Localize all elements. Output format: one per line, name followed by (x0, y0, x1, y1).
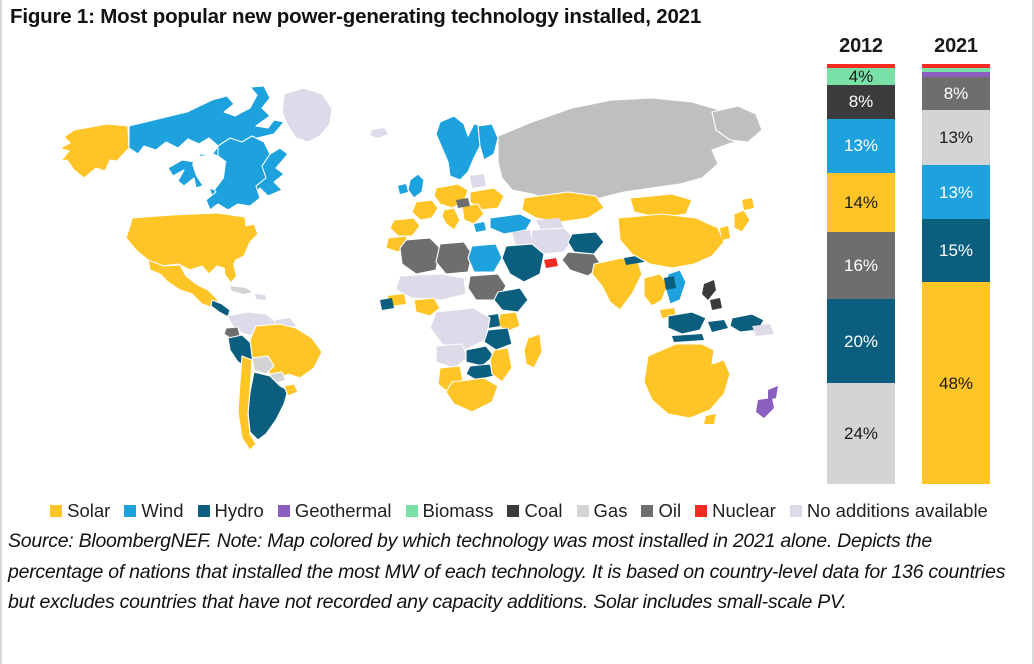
map-region-laos (664, 276, 676, 290)
bar-segment-wind: 13% (922, 165, 990, 220)
map-region-madagascar (524, 334, 542, 368)
bar-segment-oil: 16% (827, 232, 895, 299)
map-region-italy (442, 208, 460, 230)
legend-label: Biomass (423, 501, 494, 521)
map-region-indonesia (668, 312, 706, 334)
world-map (12, 38, 802, 488)
legend-label: Gas (594, 501, 628, 521)
map-region-cuba (230, 286, 252, 294)
map-region-afghanistan (568, 232, 604, 254)
map-region-argentina (248, 372, 288, 440)
stacked-bar-2012: 4%8%13%14%16%20%24% (827, 64, 895, 484)
stacked-bar-2021: 8%13%13%15%48% (922, 64, 990, 484)
map-region-india (592, 258, 642, 310)
legend-label: Hydro (215, 501, 264, 521)
legend-label: No additions available (807, 501, 988, 521)
legend-swatch-icon (278, 505, 290, 517)
bar-segment-value: 13% (844, 137, 878, 154)
map-region-greece (474, 222, 486, 232)
bar-segment-value: 14% (844, 194, 878, 211)
map-region-greenland (282, 88, 332, 142)
bar-segment-value: 15% (939, 242, 973, 259)
legend-item-nuclear[interactable]: Nuclear (695, 501, 776, 521)
map-region-japan-north (742, 198, 754, 210)
legend-item-hydro[interactable]: Hydro (198, 501, 264, 521)
legend: SolarWindHydroGeothermalBiomassCoalGasOi… (2, 498, 1034, 524)
legend-item-wind[interactable]: Wind (124, 501, 183, 521)
legend-label: Nuclear (712, 501, 776, 521)
legend-swatch-icon (507, 505, 519, 517)
map-region-united-kingdom (408, 174, 424, 198)
bar-segment-value: 8% (944, 85, 969, 102)
world-map-container (12, 38, 802, 488)
legend-label: Geothermal (295, 501, 392, 521)
map-region-hispaniola (255, 294, 266, 300)
legend-label: Solar (67, 501, 110, 521)
legend-swatch-icon (790, 505, 802, 517)
legend-swatch-icon (50, 505, 62, 517)
map-region-iberia (390, 218, 420, 236)
map-region-iceland (370, 128, 388, 138)
legend-item-geothermal[interactable]: Geothermal (278, 501, 392, 521)
map-region-libya (436, 242, 472, 274)
map-region-saudi-arabia (502, 244, 544, 282)
map-region-japan (734, 210, 750, 232)
map-region-australia (644, 344, 730, 418)
map-region-us-florida (225, 263, 236, 282)
bar-segment-gas: 13% (922, 110, 990, 165)
map-region-philippines (702, 280, 716, 300)
legend-item-biomass[interactable]: Biomass (406, 501, 494, 521)
map-region-russia (498, 98, 742, 202)
map-region-baltics (470, 174, 486, 188)
bar-segment-wind: 13% (827, 119, 895, 174)
map-region-ethiopia (494, 288, 528, 312)
legend-swatch-icon (577, 505, 589, 517)
map-region-france (412, 200, 438, 220)
map-region-indonesia-east (708, 320, 728, 332)
map-region-uae (544, 258, 558, 268)
map-region-guinea (380, 298, 394, 310)
bar-segment-value: 13% (939, 129, 973, 146)
map-region-new-zealand (768, 386, 778, 400)
bar-segment-biomass: 4% (827, 68, 895, 85)
map-region-kazakhstan (522, 192, 604, 222)
legend-swatch-icon (695, 505, 707, 517)
map-region-tanzania (484, 328, 512, 350)
map-region-ireland (398, 184, 408, 194)
map-region-angola (436, 344, 468, 368)
map-region-zambia (466, 346, 494, 366)
bar-segment-oil: 8% (922, 77, 990, 111)
legend-swatch-icon (124, 505, 136, 517)
legend-swatch-icon (198, 505, 210, 517)
map-region-new-zealand-south (756, 398, 774, 418)
bar-segment-solar: 14% (827, 173, 895, 232)
legend-swatch-icon (641, 505, 653, 517)
source-note: Source: BloombergNEF. Note: Map colored … (8, 526, 1030, 618)
figure-container: Figure 1: Most popular new power-generat… (0, 0, 1034, 664)
legend-item-oil[interactable]: Oil (641, 501, 681, 521)
bar-segment-hydro: 15% (922, 219, 990, 282)
map-region-scandinavia (436, 116, 484, 180)
map-region-south-africa (446, 378, 498, 412)
bar-segment-value: 20% (844, 333, 878, 350)
bar-segment-value: 48% (939, 375, 973, 392)
map-region-tasmania (704, 414, 716, 424)
bar-segment-value: 4% (849, 68, 874, 85)
bar-segment-value: 16% (844, 257, 878, 274)
map-region-mozambique (490, 348, 512, 382)
map-region-philippines-south (710, 298, 722, 310)
legend-label: Oil (658, 501, 681, 521)
bar-year-label-2021: 2021 (912, 34, 1000, 60)
bar-column-2021: 2021 8%13%13%15%48% (912, 34, 1000, 484)
bar-segment-value: 24% (844, 425, 878, 442)
page-title: Figure 1: Most popular new power-generat… (10, 2, 1020, 32)
map-region-iraq (512, 230, 532, 246)
legend-item-no_additions[interactable]: No additions available (790, 501, 988, 521)
legend-item-solar[interactable]: Solar (50, 501, 110, 521)
legend-item-gas[interactable]: Gas (577, 501, 628, 521)
legend-label: Coal (524, 501, 562, 521)
bar-segment-coal: 8% (827, 85, 895, 119)
map-region-sahel (396, 274, 466, 300)
map-region-algeria (400, 238, 440, 274)
map-region-egypt (468, 244, 502, 272)
legend-swatch-icon (406, 505, 418, 517)
bar-segment-value: 8% (849, 93, 874, 110)
legend-label: Wind (141, 501, 183, 521)
map-region-finland (478, 124, 498, 160)
bar-segment-gas: 24% (827, 383, 895, 484)
map-region-united-states (126, 213, 258, 274)
bar-year-label-2012: 2012 (817, 34, 905, 60)
bar-segment-value: 13% (939, 184, 973, 201)
bar-segment-solar: 48% (922, 282, 990, 484)
map-region-indonesia-java (672, 334, 704, 342)
map-region-central-america (211, 300, 230, 317)
map-region-papua-indonesia (752, 324, 774, 336)
legend-item-coal[interactable]: Coal (507, 501, 562, 521)
bar-column-2012: 2012 4%8%13%14%16%20%24% (817, 34, 905, 484)
bar-segment-hydro: 20% (827, 299, 895, 383)
map-region-zimbabwe (466, 364, 494, 380)
map-region-alaska (60, 124, 129, 178)
